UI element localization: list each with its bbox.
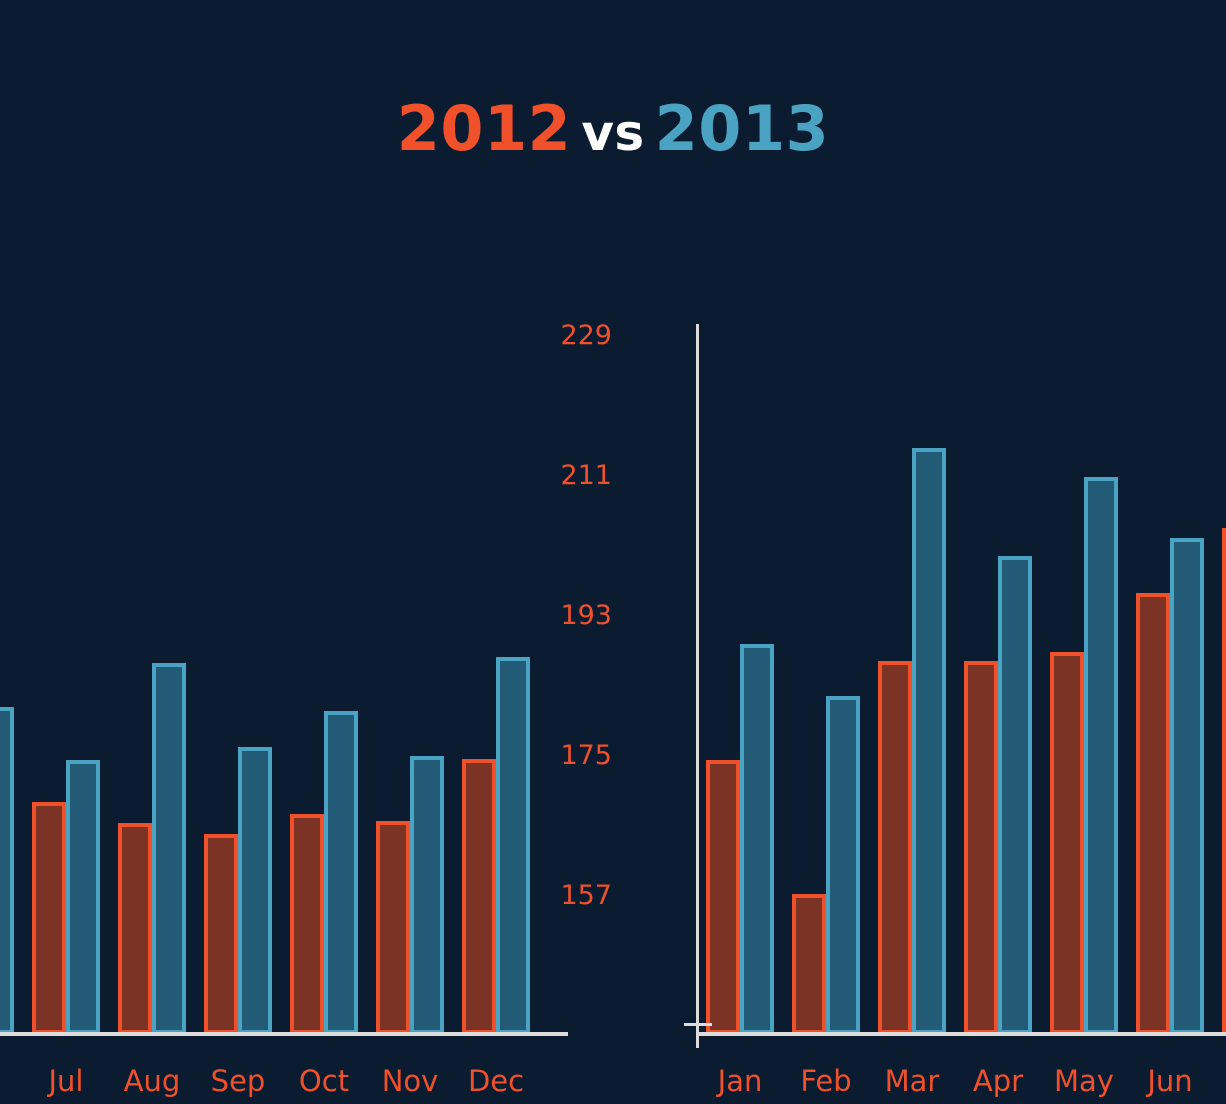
bar-2012-apr xyxy=(964,661,998,1034)
y-tick-label: 157 xyxy=(560,882,612,909)
y-tick-label: 211 xyxy=(560,462,612,489)
x-tick-label-sep: Sep xyxy=(211,1067,266,1096)
bar-2013-oct xyxy=(324,711,358,1034)
x-tick-label-jan: Jan xyxy=(718,1067,763,1096)
bar-2012-jul xyxy=(32,802,66,1034)
bar-2012-oct xyxy=(290,814,324,1034)
x-tick-label-dec: Dec xyxy=(468,1067,524,1096)
chart-panel-left: JulAugSepOctNovDec xyxy=(0,0,580,1104)
bar-2012-jun xyxy=(1136,593,1170,1034)
bar-2013-jun xyxy=(1170,538,1204,1034)
bar-2013-jan xyxy=(740,644,774,1034)
y-tick-label: 175 xyxy=(560,742,612,769)
x-tick-label-nov: Nov xyxy=(382,1067,439,1096)
x-tick-label-jun: Jun xyxy=(1147,1067,1192,1096)
bar-2013-sep xyxy=(238,747,272,1034)
bar-2013-nov xyxy=(410,756,444,1034)
bar-2012-dec xyxy=(462,759,496,1034)
bar-2012-feb xyxy=(792,894,826,1034)
y-tick-label: 193 xyxy=(560,602,612,629)
bar-2013-dec xyxy=(496,657,530,1034)
bar-2013-may xyxy=(1084,477,1118,1034)
x-tick-label-apr: Apr xyxy=(973,1067,1023,1096)
bar-2013-aug xyxy=(152,663,186,1034)
y-axis-line xyxy=(696,324,699,1036)
bar-2012-sep xyxy=(204,834,238,1034)
y-tick-label: 229 xyxy=(560,322,612,349)
bar-2012-clipped xyxy=(1222,528,1226,1034)
bar-2012-may xyxy=(1050,652,1084,1034)
bar-2013-jul xyxy=(66,760,100,1034)
bar-2012-aug xyxy=(118,823,152,1034)
bar-2013-clipped xyxy=(0,707,14,1034)
x-tick-label-may: May xyxy=(1054,1067,1114,1096)
bar-2013-feb xyxy=(826,696,860,1034)
x-tick-label-mar: Mar xyxy=(885,1067,940,1096)
bar-2012-nov xyxy=(376,821,410,1034)
x-tick-label-jul: Jul xyxy=(49,1067,84,1096)
chart-panel-right: JanFebMarAprMayJun xyxy=(628,0,1226,1104)
x-axis-line-right xyxy=(696,1032,1226,1036)
x-tick-label-aug: Aug xyxy=(124,1067,181,1096)
x-tick-label-feb: Feb xyxy=(800,1067,851,1096)
x-tick-label-oct: Oct xyxy=(299,1067,349,1096)
plot-area-left: JulAugSepOctNovDec xyxy=(0,0,580,1104)
bar-2013-apr xyxy=(998,556,1032,1034)
bar-2013-mar xyxy=(912,448,946,1034)
bar-2012-mar xyxy=(878,661,912,1034)
bar-2012-jan xyxy=(706,760,740,1034)
x-axis-line-left xyxy=(0,1032,568,1036)
plot-area-right: JanFebMarAprMayJun xyxy=(628,0,1226,1104)
